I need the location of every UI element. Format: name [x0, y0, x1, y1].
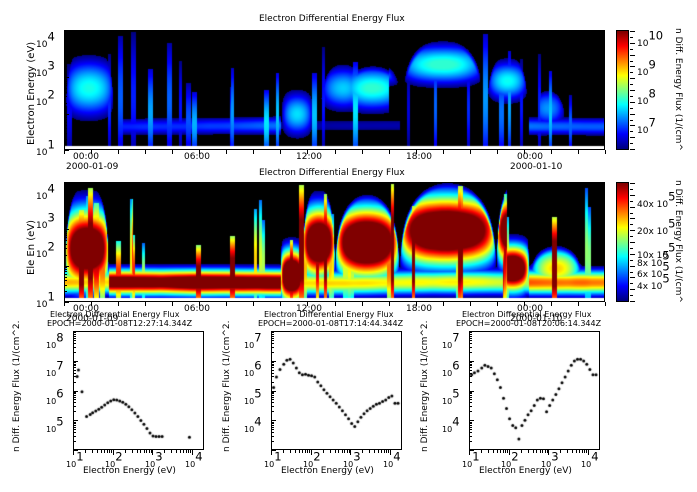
y-tick-mark — [73, 334, 76, 335]
x-tick-mark — [283, 450, 284, 453]
y-tick-mark — [469, 392, 472, 393]
x-tick-mark — [311, 450, 312, 455]
y-tick-mark — [271, 391, 276, 392]
x-tick-mark — [350, 450, 351, 455]
x-tick-mark — [572, 450, 573, 453]
y-tick-mark — [64, 96, 67, 97]
colorbar-tick-mark — [630, 230, 635, 231]
y-tick-mark — [73, 429, 76, 430]
x-tick-mark — [443, 150, 444, 154]
spectrum-2-xtick-3: 104 — [581, 452, 599, 471]
top-colorbar-tick-0: 1010 — [637, 31, 663, 50]
y-tick-mark — [64, 204, 67, 205]
x-tick-mark — [497, 450, 498, 453]
y-tick-mark — [271, 382, 274, 383]
y-tick-mark — [64, 212, 67, 213]
y-tick-mark — [64, 41, 69, 42]
y-tick-mark — [64, 274, 67, 275]
y-tick-mark — [469, 332, 472, 333]
x-tick-mark — [307, 450, 308, 453]
y-tick-mark — [73, 361, 78, 362]
x-tick-mark — [533, 450, 534, 453]
spectrum-0-ylabel: n Diff. Energy Flux (1/(cm^2. — [12, 321, 22, 452]
y-tick-mark — [64, 128, 67, 129]
x-tick-mark — [560, 450, 561, 453]
x-tick-mark — [503, 450, 504, 453]
y-tick-mark — [64, 291, 67, 292]
y-tick-mark — [469, 361, 474, 362]
x-tick-mark — [335, 150, 336, 154]
y-tick-mark — [64, 43, 67, 44]
y-tick-mark — [469, 376, 472, 377]
x-tick-mark — [582, 450, 583, 453]
x-tick-mark — [500, 450, 501, 453]
y-tick-mark — [64, 271, 67, 272]
y-tick-mark — [271, 423, 274, 424]
y-tick-mark — [73, 393, 76, 394]
x-tick-mark — [145, 150, 146, 154]
y-tick-mark — [64, 255, 67, 256]
x-tick-mark — [171, 450, 172, 453]
y-tick-mark — [64, 280, 67, 281]
y-tick-mark — [271, 364, 274, 365]
x-tick-mark — [140, 450, 141, 453]
x-tick-mark — [335, 302, 336, 306]
x-tick-mark — [497, 150, 498, 154]
spectrum-2-title: Electron Differential Energy Flux — [462, 310, 591, 319]
middle-colorbar-label-group: n Diff. Energy Flux (1/(cm^ — [683, 180, 697, 190]
spectrum-1-plot[interactable] — [271, 331, 402, 450]
y-tick-mark — [469, 395, 472, 396]
top-panel-xtick-1: 06:00 — [184, 152, 210, 162]
x-tick-mark — [488, 450, 489, 453]
spectrum-1-xtick-0: 101 — [264, 452, 282, 471]
x-tick-mark — [524, 302, 525, 306]
x-tick-mark — [548, 450, 549, 455]
x-tick-mark — [149, 450, 150, 453]
y-tick-mark — [469, 362, 472, 363]
colorbar-tick-mark — [630, 125, 635, 126]
y-tick-mark — [469, 364, 472, 365]
y-tick-mark — [73, 411, 76, 412]
x-tick-mark — [125, 450, 126, 453]
x-tick-mark — [146, 450, 147, 453]
y-tick-mark — [469, 367, 472, 368]
x-tick-mark — [253, 150, 254, 154]
y-tick-mark — [73, 395, 76, 396]
top-colorbar-label-group: n Diff. Energy Flux (1/(cm^ — [683, 28, 697, 38]
x-tick-mark — [302, 450, 303, 453]
middle-panel-ytick-2: 102 — [36, 242, 55, 261]
top-panel-title: Electron Differential Energy Flux — [259, 14, 405, 24]
x-tick-mark — [180, 450, 181, 453]
colorbar-tick-mark — [630, 72, 633, 73]
y-tick-mark — [271, 402, 274, 403]
y-tick-mark — [271, 399, 274, 400]
x-tick-mark — [347, 450, 348, 453]
y-tick-mark — [271, 343, 274, 344]
spectrum-1-xlabel: Electron Energy (eV) — [281, 466, 374, 476]
top-colorbar-tick-3: 107 — [637, 118, 656, 137]
spectrum-2-plot[interactable] — [469, 331, 600, 450]
colorbar-tick-mark — [630, 90, 635, 91]
top-colorbar-tick-1: 109 — [637, 60, 656, 79]
y-tick-mark — [469, 352, 472, 353]
x-tick-mark — [199, 302, 200, 306]
x-tick-mark — [85, 450, 86, 453]
top-panel-spectrogram[interactable] — [64, 30, 605, 150]
y-tick-mark — [64, 83, 67, 84]
middle-panel-colorbar[interactable] — [616, 182, 629, 302]
y-tick-mark — [271, 397, 274, 398]
spectrum-0-title: Electron Differential Energy Flux — [50, 310, 179, 319]
y-tick-mark — [64, 66, 67, 67]
y-tick-mark — [64, 115, 67, 116]
y-tick-mark — [64, 199, 67, 200]
spectrum-1-ytick-3: 104 — [244, 417, 262, 436]
spectrum-1-title: Electron Differential Energy Flux — [264, 310, 393, 319]
x-tick-mark — [470, 150, 471, 154]
x-tick-mark — [307, 150, 308, 154]
y-tick-mark — [73, 420, 78, 421]
y-tick-mark — [64, 55, 67, 56]
y-tick-mark — [64, 117, 67, 118]
x-tick-mark — [97, 450, 98, 453]
y-tick-mark — [64, 88, 67, 89]
spectrum-2-epoch: EPOCH=2000-01-08T20:06:14.344Z — [456, 319, 601, 328]
x-tick-mark — [524, 150, 525, 154]
spectrum-0-epoch: EPOCH=2000-01-08T12:27:14.344Z — [47, 319, 192, 328]
colorbar-tick-mark — [630, 31, 635, 32]
colorbar-tick-mark — [630, 218, 635, 219]
middle-panel-xtick-3: 18:00 — [406, 304, 432, 314]
y-tick-mark — [469, 338, 472, 339]
y-tick-mark — [271, 367, 274, 368]
y-tick-mark — [73, 436, 76, 437]
x-tick-mark — [335, 450, 336, 453]
x-tick-mark — [137, 450, 138, 453]
spectrum-0-ytick-3: 105 — [46, 417, 64, 436]
y-tick-mark — [469, 347, 472, 348]
top-panel-xtick-0: 00:00 — [73, 152, 99, 162]
colorbar-tick-mark — [630, 120, 633, 121]
y-tick-mark — [271, 347, 274, 348]
y-tick-mark — [64, 47, 67, 48]
colorbar-tick-mark — [630, 131, 633, 132]
y-tick-mark — [64, 49, 67, 50]
y-tick-mark — [73, 340, 76, 341]
x-tick-mark — [299, 450, 300, 453]
x-tick-mark — [192, 450, 193, 455]
y-tick-mark — [64, 85, 67, 86]
colorbar-tick-mark — [630, 201, 633, 202]
x-tick-mark — [381, 450, 382, 453]
colorbar-tick-mark — [630, 143, 633, 144]
y-tick-mark — [271, 422, 274, 423]
colorbar-tick-mark — [630, 102, 635, 103]
x-tick-mark — [307, 302, 308, 306]
x-tick-mark — [183, 450, 184, 453]
x-tick-mark — [342, 450, 343, 453]
y-tick-mark — [271, 352, 274, 353]
x-tick-mark — [253, 302, 254, 306]
y-tick-mark — [73, 364, 76, 365]
x-tick-mark — [113, 450, 114, 455]
y-tick-mark — [271, 406, 274, 407]
y-tick-mark — [64, 44, 67, 45]
colorbar-tick-mark — [630, 43, 635, 44]
middle-colorbar-label: n Diff. Energy Flux (1/(cm^ — [673, 180, 683, 303]
colorbar-tick-mark — [630, 114, 635, 115]
y-tick-mark — [64, 52, 67, 53]
x-tick-mark — [118, 302, 119, 306]
y-tick-mark — [73, 365, 76, 366]
colorbar-tick-mark — [630, 260, 633, 261]
y-tick-mark — [271, 338, 274, 339]
x-tick-mark — [378, 450, 379, 453]
colorbar-tick-mark — [630, 55, 635, 56]
colorbar-tick-mark — [630, 49, 633, 50]
x-tick-mark — [481, 450, 482, 453]
x-tick-mark — [188, 450, 189, 453]
spectrum-1-ytick-0: 107 — [244, 333, 262, 352]
y-tick-mark — [271, 436, 274, 437]
x-tick-mark — [107, 450, 108, 453]
x-tick-mark — [605, 302, 606, 306]
y-tick-mark — [469, 399, 472, 400]
x-tick-mark — [145, 302, 146, 306]
y-tick-mark — [73, 362, 76, 363]
y-tick-mark — [64, 77, 69, 78]
spectrum-1-ytick-1: 106 — [244, 361, 262, 380]
spectrum-1-ytick-2: 105 — [244, 389, 262, 408]
y-tick-mark — [469, 343, 472, 344]
top-panel-xend-date: 2000-01-10 — [510, 162, 562, 172]
top-colorbar-label: n Diff. Energy Flux (1/(cm^ — [673, 28, 683, 151]
x-tick-mark — [338, 450, 339, 453]
spectrum-2-ylabel-group: n Diff. Energy Flux (1/(cm^2. — [420, 452, 551, 462]
colorbar-tick-mark — [630, 301, 635, 302]
y-tick-mark — [64, 193, 69, 194]
x-tick-mark — [344, 450, 345, 453]
x-tick-mark — [374, 450, 375, 453]
y-tick-mark — [469, 427, 472, 428]
y-tick-mark — [469, 336, 472, 337]
y-tick-mark — [469, 382, 472, 383]
y-tick-mark — [271, 362, 274, 363]
y-tick-mark — [64, 266, 69, 267]
y-tick-mark — [73, 347, 76, 348]
colorbar-tick-mark — [630, 108, 633, 109]
x-tick-mark — [579, 450, 580, 453]
colorbar-tick-mark — [630, 183, 635, 184]
y-tick-mark — [469, 429, 472, 430]
y-tick-mark — [73, 406, 76, 407]
y-tick-mark — [64, 196, 67, 197]
y-tick-mark — [73, 343, 76, 344]
y-tick-mark — [271, 373, 274, 374]
x-tick-mark — [416, 302, 417, 306]
y-tick-mark — [469, 406, 472, 407]
y-tick-mark — [64, 122, 67, 123]
y-tick-mark — [271, 425, 274, 426]
x-tick-mark — [390, 450, 391, 455]
y-tick-mark — [469, 393, 472, 394]
x-tick-mark — [567, 450, 568, 453]
x-tick-mark — [176, 450, 177, 453]
colorbar-tick-mark — [630, 242, 635, 243]
colorbar-tick-mark — [630, 37, 633, 38]
y-tick-mark — [73, 336, 76, 337]
y-tick-mark — [73, 441, 76, 442]
y-tick-mark — [73, 450, 78, 451]
middle-colorbar-tick-0: 40x 105 — [637, 192, 675, 211]
x-tick-mark — [104, 450, 105, 453]
y-tick-mark — [271, 395, 274, 396]
spectrum-2-ytick-1: 106 — [442, 361, 460, 380]
colorbar-tick-mark — [630, 137, 635, 138]
y-tick-mark — [469, 334, 472, 335]
y-tick-mark — [73, 397, 76, 398]
y-tick-mark — [64, 302, 69, 303]
y-tick-mark — [469, 450, 474, 451]
x-tick-mark — [540, 450, 541, 453]
y-tick-mark — [271, 393, 274, 394]
y-tick-mark — [73, 382, 76, 383]
top-panel-xtick-2: 12:00 — [296, 152, 322, 162]
spectrum-0-plot[interactable] — [73, 331, 204, 450]
y-tick-mark — [469, 370, 472, 371]
y-tick-mark — [64, 125, 67, 126]
y-tick-mark — [469, 436, 472, 437]
x-tick-mark — [172, 150, 173, 154]
x-tick-mark — [118, 150, 119, 154]
x-tick-mark — [551, 302, 552, 306]
spectrum-1-epoch: EPOCH=2000-01-08T17:14:44.344Z — [258, 319, 403, 328]
top-panel-ytick-2: 102 — [36, 90, 55, 109]
y-tick-mark — [64, 240, 67, 241]
x-tick-mark — [295, 450, 296, 453]
x-tick-mark — [290, 450, 291, 453]
y-tick-mark — [469, 432, 472, 433]
middle-panel-xtick-1: 06:00 — [184, 304, 210, 314]
top-panel-ytick-1: 103 — [36, 61, 55, 80]
y-tick-mark — [469, 373, 472, 374]
x-tick-mark — [497, 302, 498, 306]
x-tick-mark — [226, 302, 227, 306]
y-tick-mark — [64, 244, 67, 245]
spectrum-2-ytick-0: 107 — [442, 333, 460, 352]
top-colorbar-tick-2: 108 — [637, 89, 656, 108]
x-tick-mark — [551, 150, 552, 154]
y-tick-mark — [64, 103, 67, 104]
y-tick-mark — [469, 422, 472, 423]
colorbar-tick-mark — [630, 248, 633, 249]
colorbar-tick-mark — [630, 213, 633, 214]
spectrum-0-xtick-3: 104 — [185, 452, 203, 471]
spectrum-0-xtick-0: 101 — [66, 452, 84, 471]
middle-panel-ytick-3: 101 — [36, 292, 55, 311]
y-tick-mark — [469, 402, 472, 403]
y-tick-mark — [73, 427, 76, 428]
colorbar-tick-mark — [630, 78, 635, 79]
y-tick-mark — [73, 391, 78, 392]
y-tick-mark — [64, 231, 67, 232]
y-tick-mark — [64, 150, 69, 151]
colorbar-tick-mark — [630, 61, 633, 62]
x-tick-mark — [330, 450, 331, 453]
top-panel-xtick-3: 18:00 — [406, 152, 432, 162]
x-tick-mark — [416, 150, 417, 154]
top-panel-ytick-3: 101 — [36, 140, 55, 159]
colorbar-tick-mark — [630, 195, 635, 196]
y-tick-mark — [271, 365, 274, 366]
x-tick-mark — [389, 150, 390, 154]
y-tick-mark — [64, 81, 67, 82]
top-panel-xstart-date: 2000-01-09 — [66, 162, 118, 172]
y-tick-mark — [469, 391, 474, 392]
colorbar-tick-mark — [630, 295, 633, 296]
y-tick-mark — [73, 425, 76, 426]
middle-panel-spectrogram[interactable] — [64, 182, 605, 302]
y-tick-mark — [73, 399, 76, 400]
y-tick-mark — [64, 133, 67, 134]
y-tick-mark — [64, 119, 67, 120]
x-tick-mark — [545, 450, 546, 453]
spectrum-0-ytick-1: 107 — [46, 361, 64, 380]
y-tick-mark — [64, 114, 69, 115]
x-tick-mark — [152, 450, 153, 455]
middle-colorbar-tick-5: 4x 105 — [637, 274, 670, 293]
x-tick-mark — [605, 150, 606, 154]
y-tick-mark — [64, 229, 69, 230]
y-tick-mark — [271, 392, 274, 393]
x-tick-mark — [576, 450, 577, 453]
colorbar-tick-mark — [630, 189, 633, 190]
y-tick-mark — [271, 361, 276, 362]
x-tick-mark — [91, 302, 92, 306]
y-tick-mark — [271, 441, 274, 442]
y-tick-mark — [469, 365, 472, 366]
spectrum-0-ytick-0: 108 — [46, 333, 64, 352]
y-tick-mark — [64, 218, 67, 219]
y-tick-mark — [271, 450, 276, 451]
x-tick-mark — [164, 450, 165, 453]
top-panel-colorbar[interactable] — [616, 30, 629, 150]
y-tick-mark — [73, 332, 76, 333]
y-tick-mark — [73, 376, 76, 377]
spectrum-2-ytick-2: 105 — [442, 389, 460, 408]
spectrum-1-xtick-3: 104 — [383, 452, 401, 471]
y-tick-mark — [64, 79, 67, 80]
y-tick-mark — [73, 367, 76, 368]
x-tick-mark — [578, 150, 579, 154]
middle-panel-title: Electron Differential Energy Flux — [259, 168, 405, 178]
colorbar-tick-mark — [630, 266, 635, 267]
y-tick-mark — [469, 420, 474, 421]
y-tick-mark — [64, 285, 67, 286]
x-tick-mark — [226, 150, 227, 154]
middle-colorbar-tick-1: 20x 105 — [637, 219, 675, 238]
x-tick-mark — [509, 450, 510, 455]
colorbar-tick-mark — [630, 66, 635, 67]
y-tick-mark — [64, 201, 67, 202]
y-tick-mark — [73, 352, 76, 353]
y-tick-mark — [271, 376, 274, 377]
y-tick-mark — [64, 237, 67, 238]
colorbar-tick-mark — [630, 272, 633, 273]
x-tick-mark — [199, 150, 200, 154]
